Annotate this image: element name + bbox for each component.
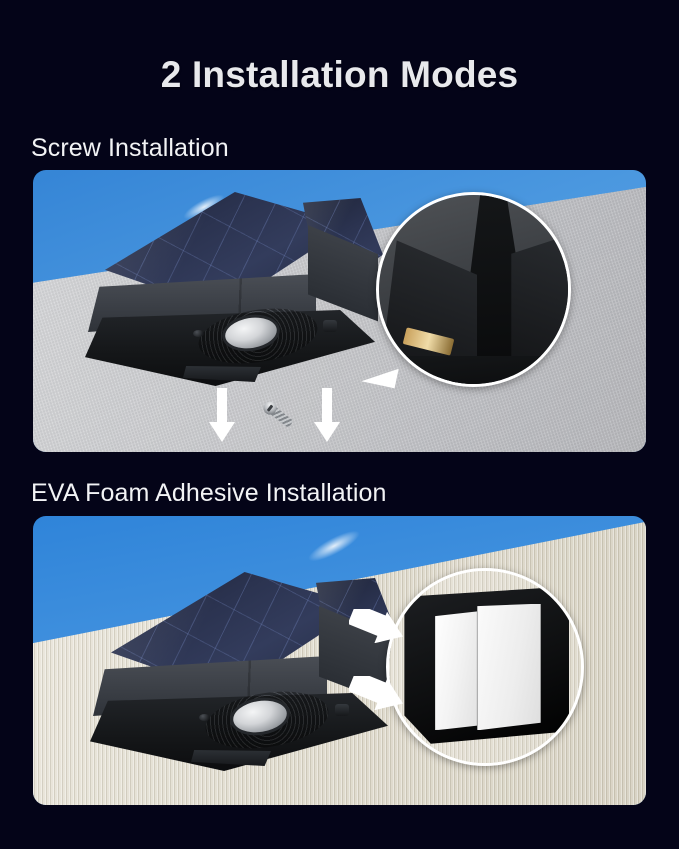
callout-inset-screw-bracket <box>376 192 571 387</box>
side-button <box>335 704 349 716</box>
led-indicator <box>193 330 204 337</box>
right-arrow-lower <box>349 676 405 710</box>
scene-eva-foam-installation <box>33 516 646 805</box>
bracket-bottom-shadow <box>376 356 571 387</box>
down-arrow-left <box>209 388 235 442</box>
photo-panel-screw-installation <box>33 170 646 452</box>
page-title: 2 Installation Modes <box>0 54 679 96</box>
led-indicator <box>199 714 210 721</box>
section-heading-eva-foam-adhesive-installation: EVA Foam Adhesive Installation <box>31 479 387 508</box>
right-arrow-upper <box>349 609 405 643</box>
down-arrow-right <box>314 388 340 442</box>
photo-panel-eva-foam-installation <box>33 516 646 805</box>
callout-inset-eva-foam-pad <box>386 568 584 766</box>
eva-foam-pad-left <box>435 611 477 730</box>
section-heading-screw-installation: Screw Installation <box>31 134 229 163</box>
eva-foam-pad-right <box>477 604 540 731</box>
scene-screw-installation <box>33 170 646 452</box>
side-button <box>323 320 337 332</box>
